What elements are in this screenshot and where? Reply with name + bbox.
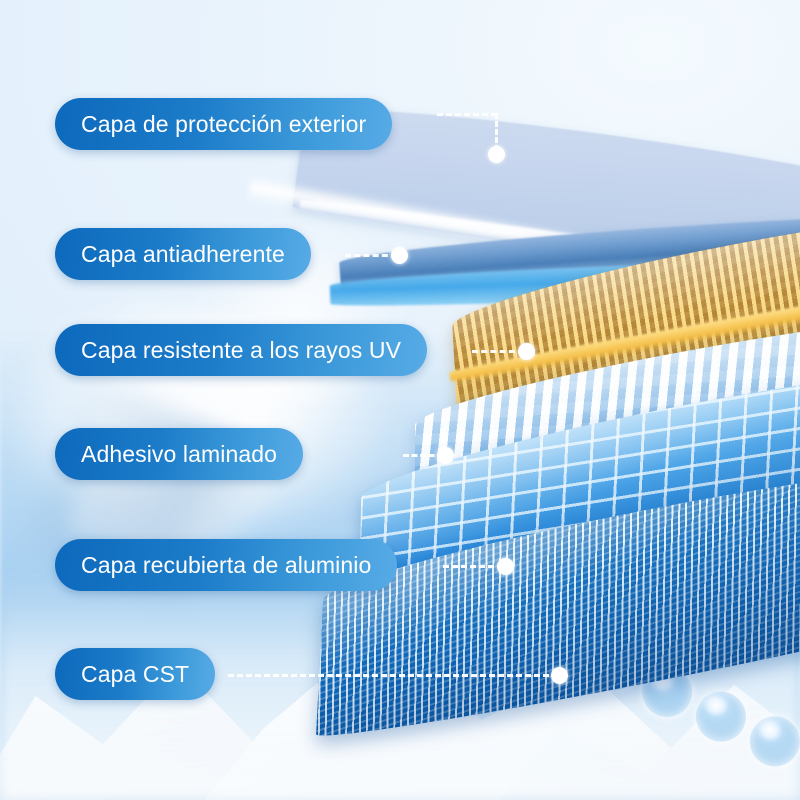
layer-label-non-stick[interactable]: Capa antiadherente <box>55 228 311 280</box>
connector-uv-resistant <box>472 350 524 353</box>
connector-dot-non-stick <box>391 247 408 264</box>
connector-aluminum-coated <box>443 565 503 568</box>
connector-non-stick <box>345 254 397 257</box>
connector-dot-aluminum-coated <box>497 558 514 575</box>
layer-label-text: Capa antiadherente <box>81 241 285 268</box>
layer-label-text: Capa recubierta de aluminio <box>81 552 371 579</box>
layer-label-outer-protection[interactable]: Capa de protección exterior <box>55 98 392 150</box>
layer-label-cst[interactable]: Capa CST <box>55 648 215 700</box>
layer-label-text: Capa de protección exterior <box>81 111 366 138</box>
layer-label-text: Capa resistente a los rayos UV <box>81 337 401 364</box>
connector-dot-uv-resistant <box>518 343 535 360</box>
connector-dot-cst <box>551 667 568 684</box>
layer-label-uv-resistant[interactable]: Capa resistente a los rayos UV <box>55 324 427 376</box>
layer-label-text: Adhesivo laminado <box>81 441 277 468</box>
connector-cst <box>228 674 558 677</box>
layer-label-aluminum-coated[interactable]: Capa recubierta de aluminio <box>55 539 397 591</box>
connector-dot-outer-protection <box>488 146 505 163</box>
layer-diagram: Capa de protección exterior Capa antiadh… <box>0 0 800 800</box>
layer-label-laminated-adhesive[interactable]: Adhesivo laminado <box>55 428 303 480</box>
connector-outer-protection <box>437 113 497 116</box>
layer-label-text: Capa CST <box>81 661 189 688</box>
connector-dot-laminated-adhesive <box>437 447 454 464</box>
